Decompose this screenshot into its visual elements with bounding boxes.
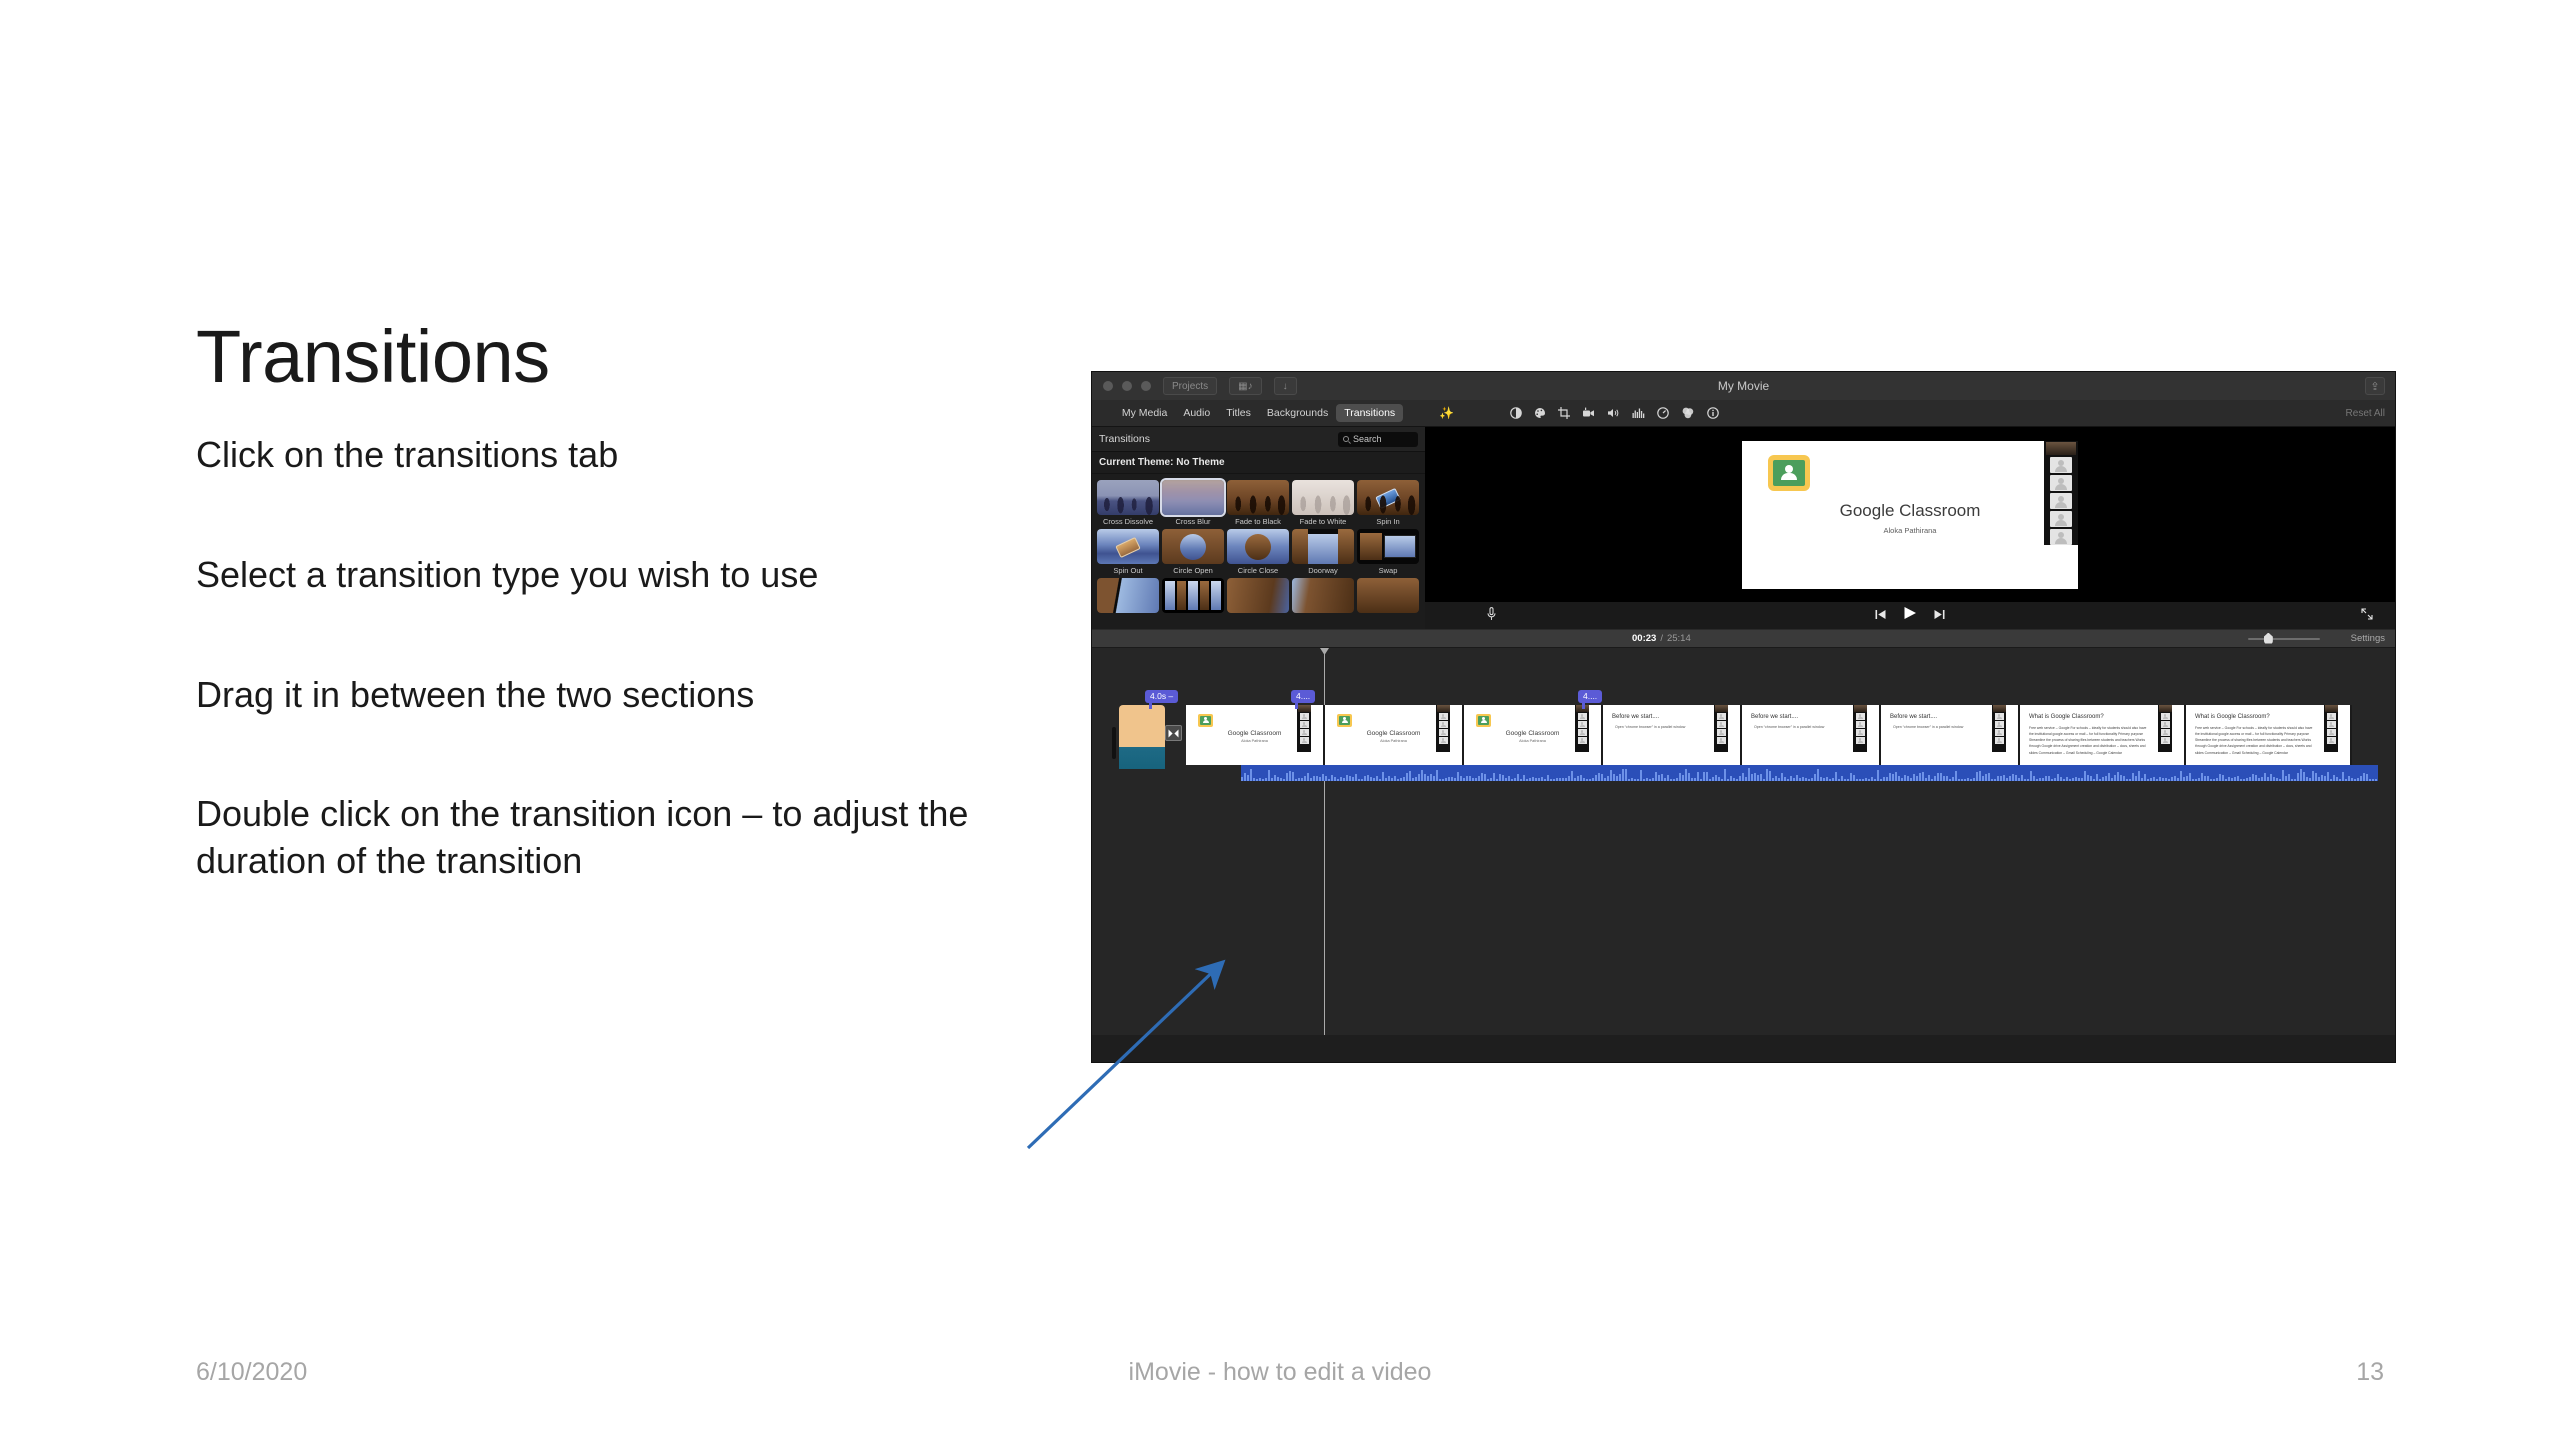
- projects-button[interactable]: Projects: [1163, 377, 1217, 395]
- crop-icon[interactable]: [1558, 407, 1570, 419]
- participant-filmstrip: [1436, 705, 1450, 752]
- time-separator: /: [1660, 633, 1663, 644]
- transition-item[interactable]: Swap: [1357, 529, 1419, 575]
- page-title: Transitions: [196, 320, 550, 394]
- total-time: 25:14: [1667, 633, 1691, 644]
- audio-waveform[interactable]: [1241, 765, 2378, 781]
- media-browser-panel: My Media Audio Titles Backgrounds Transi…: [1092, 400, 1425, 629]
- table-row[interactable]: Before we start.... Open “chrome browser…: [1603, 705, 1742, 765]
- minimize-icon[interactable]: [1122, 381, 1132, 391]
- transition-label: Spin Out: [1097, 566, 1159, 575]
- transition-label: Circle Close: [1227, 566, 1289, 575]
- volume-icon[interactable]: [1607, 407, 1620, 419]
- transition-item[interactable]: [1292, 578, 1354, 613]
- filters-icon[interactable]: [1681, 407, 1695, 419]
- window-traffic-lights[interactable]: [1103, 381, 1151, 391]
- transition-item[interactable]: [1227, 578, 1289, 613]
- color-balance-icon[interactable]: [1510, 407, 1522, 419]
- transition-icon[interactable]: [1165, 725, 1182, 741]
- tab-backgrounds[interactable]: Backgrounds: [1259, 404, 1336, 422]
- table-row[interactable]: Before we start.... Open “chrome browser…: [1742, 705, 1881, 765]
- clip-title: Before we start....: [1612, 714, 1659, 720]
- stabilization-icon[interactable]: [1582, 407, 1595, 419]
- speed-icon[interactable]: [1657, 407, 1669, 419]
- google-classroom-icon: [1476, 714, 1491, 727]
- clip-title: What is Google Classroom?: [2029, 714, 2104, 720]
- microphone-icon[interactable]: [1487, 607, 1496, 624]
- transition-item[interactable]: Fade to White: [1292, 480, 1354, 526]
- maximize-icon[interactable]: [1141, 381, 1151, 391]
- upper-panes: My Media Audio Titles Backgrounds Transi…: [1092, 400, 2395, 629]
- preview-stage: Google Classroom Aloka Pathirana: [1425, 427, 2395, 602]
- preview-slide: Google Classroom Aloka Pathirana: [1742, 441, 2078, 589]
- transition-thumbnail: [1292, 578, 1354, 613]
- footer-page-number: 13: [2356, 1358, 2384, 1387]
- transition-thumbnail: [1292, 480, 1354, 515]
- participant-filmstrip: [1992, 705, 2006, 752]
- share-icon[interactable]: ⇪: [2365, 377, 2385, 395]
- table-row[interactable]: Google Classroom Aloka Pathirana: [1325, 705, 1464, 765]
- participant-filmstrip: [1297, 705, 1311, 752]
- skip-next-icon[interactable]: [1934, 607, 1945, 625]
- fullscreen-icon[interactable]: [2361, 608, 2373, 623]
- participant-filmstrip: [1853, 705, 1867, 752]
- magic-wand-icon[interactable]: ✨: [1439, 406, 1454, 420]
- transition-item[interactable]: Spin Out: [1097, 529, 1159, 575]
- transition-label: Doorway: [1292, 566, 1354, 575]
- google-classroom-icon: [1768, 455, 1810, 491]
- transition-label: Fade to White: [1292, 517, 1354, 526]
- transition-thumbnail: [1162, 529, 1224, 564]
- transition-thumbnail: [1097, 578, 1159, 613]
- list-item: Drag it in between the two sections: [196, 672, 1006, 719]
- participant-filmstrip: [2324, 705, 2338, 752]
- import-media-icon[interactable]: ▦♪: [1229, 377, 1261, 395]
- clip-row: Google Classroom Aloka Pathirana Google …: [1186, 705, 2352, 765]
- clip-edge-handle[interactable]: [1112, 727, 1116, 759]
- timecode-display: 00:23/25:14: [1632, 633, 1691, 644]
- transition-thumbnail: [1162, 480, 1224, 515]
- timeline-zoom-slider[interactable]: [2248, 638, 2320, 640]
- tab-my-media[interactable]: My Media: [1114, 404, 1176, 422]
- preview-slide-title: Google Classroom: [1840, 501, 1981, 521]
- transition-item[interactable]: Doorway: [1292, 529, 1354, 575]
- close-icon[interactable]: [1103, 381, 1113, 391]
- google-classroom-icon: [1198, 714, 1213, 727]
- download-icon[interactable]: ↓: [1274, 377, 1297, 395]
- bullet-list: Click on the transitions tab Select a tr…: [196, 432, 1006, 885]
- table-row[interactable]: Google Classroom Aloka Pathirana: [1464, 705, 1603, 765]
- transition-item[interactable]: [1097, 578, 1159, 613]
- tab-audio[interactable]: Audio: [1175, 404, 1218, 422]
- reset-all-button[interactable]: Reset All: [2346, 408, 2385, 419]
- google-classroom-icon: [1337, 714, 1352, 727]
- browser-header-title: Transitions: [1099, 433, 1150, 445]
- window-titlebar: Projects ▦♪ ↓ My Movie ⇪: [1092, 372, 2395, 400]
- transition-item[interactable]: Cross Blur: [1162, 480, 1224, 526]
- transition-label: Cross Dissolve: [1097, 517, 1159, 526]
- transition-label: Cross Blur: [1162, 517, 1224, 526]
- table-row[interactable]: What is Google Classroom? Free web servi…: [2020, 705, 2186, 765]
- clip-title: Before we start....: [1890, 714, 1937, 720]
- transition-thumbnail: [1227, 578, 1289, 613]
- participant-filmstrip: [1714, 705, 1728, 752]
- color-correction-icon[interactable]: [1534, 407, 1546, 419]
- browser-tabbar: My Media Audio Titles Backgrounds Transi…: [1092, 400, 1425, 427]
- current-time: 00:23: [1632, 633, 1656, 644]
- list-item: Click on the transitions tab: [196, 432, 1006, 479]
- transition-label: Fade to Black: [1227, 517, 1289, 526]
- timeline[interactable]: 4.0s – 4.... 4.... Google Classroom Alok…: [1092, 648, 2395, 1035]
- title-clip[interactable]: [1119, 705, 1165, 769]
- transition-thumbnail: [1357, 480, 1419, 515]
- transition-thumbnail: [1357, 578, 1419, 613]
- preview-toolbar: ✨: [1425, 400, 2395, 427]
- search-input[interactable]: Search: [1338, 432, 1418, 447]
- transition-label: Circle Open: [1162, 566, 1224, 575]
- timeline-statusbar: 00:23/25:14 Settings: [1092, 629, 2395, 648]
- imovie-screenshot: Projects ▦♪ ↓ My Movie ⇪ My Media Audio …: [1092, 372, 2395, 1062]
- transition-label: Swap: [1357, 566, 1419, 575]
- preview-panel: ✨: [1425, 400, 2395, 629]
- participant-filmstrip: [2158, 705, 2172, 752]
- table-row[interactable]: Google Classroom Aloka Pathirana: [1186, 705, 1325, 765]
- preview-slide-subtitle: Aloka Pathirana: [1884, 526, 1937, 535]
- transition-thumbnail: [1227, 480, 1289, 515]
- transition-item[interactable]: [1357, 578, 1419, 613]
- clip-title: What is Google Classroom?: [2195, 714, 2270, 720]
- table-row[interactable]: Before we start.... Open “chrome browser…: [1881, 705, 2020, 765]
- clip-body: Open “chrome browser” in a parallel wind…: [1754, 725, 1859, 730]
- transition-item[interactable]: Circle Close: [1227, 529, 1289, 575]
- participant-filmstrip: [2044, 441, 2078, 545]
- clip-badge[interactable]: 4....: [1291, 690, 1315, 703]
- skip-previous-icon[interactable]: [1875, 607, 1886, 625]
- search-icon: [1343, 436, 1349, 442]
- transition-thumbnail: [1097, 529, 1159, 564]
- transition-thumbnail: [1292, 529, 1354, 564]
- clip-body: Free web service – Google For schools – …: [2029, 725, 2149, 756]
- transition-item[interactable]: Circle Open: [1162, 529, 1224, 575]
- zoom-slider-handle[interactable]: [2264, 633, 2273, 644]
- list-item: Select a transition type you wish to use: [196, 552, 1006, 599]
- footer-title: iMovie - how to edit a video: [0, 1358, 2560, 1387]
- timeline-track: Google Classroom Aloka Pathirana Google …: [1112, 705, 2352, 769]
- search-placeholder: Search: [1353, 434, 1382, 444]
- clip-body: Open “chrome browser” in a parallel wind…: [1615, 725, 1720, 730]
- transition-duration-badge[interactable]: 4.0s –: [1145, 690, 1178, 703]
- transition-item[interactable]: Cross Dissolve: [1097, 480, 1159, 526]
- clip-body: Free web service – Google For schools – …: [2195, 725, 2315, 756]
- play-icon[interactable]: [1903, 606, 1917, 625]
- table-row[interactable]: What is Google Classroom? Free web servi…: [2186, 705, 2352, 765]
- tab-transitions[interactable]: Transitions: [1336, 404, 1403, 422]
- clip-body: Open “chrome browser” in a parallel wind…: [1893, 725, 1998, 730]
- transition-thumbnail: [1357, 529, 1419, 564]
- transitions-grid: Cross Dissolve Cross Blur Fade to Black …: [1092, 474, 1425, 629]
- slide: Transitions Click on the transitions tab…: [0, 0, 2560, 1440]
- list-item: Double click on the transition icon – to…: [196, 791, 1006, 885]
- playback-controls: [1425, 602, 2395, 629]
- current-theme-label: Current Theme: No Theme: [1092, 452, 1425, 474]
- clip-title: Before we start....: [1751, 714, 1798, 720]
- info-icon[interactable]: [1707, 407, 1719, 419]
- transition-thumbnail: [1162, 578, 1224, 613]
- settings-button[interactable]: Settings: [2351, 633, 2385, 644]
- tab-titles[interactable]: Titles: [1218, 404, 1259, 422]
- equalizer-icon[interactable]: [1632, 407, 1645, 419]
- transition-label: Spin In: [1357, 517, 1419, 526]
- transition-item[interactable]: Spin In: [1357, 480, 1419, 526]
- transition-item[interactable]: [1162, 578, 1224, 613]
- participant-filmstrip: [1575, 705, 1589, 752]
- transition-thumbnail: [1227, 529, 1289, 564]
- clip-badge[interactable]: 4....: [1578, 690, 1602, 703]
- transition-thumbnail: [1097, 480, 1159, 515]
- browser-header: Transitions Search: [1092, 427, 1425, 452]
- transition-item[interactable]: Fade to Black: [1227, 480, 1289, 526]
